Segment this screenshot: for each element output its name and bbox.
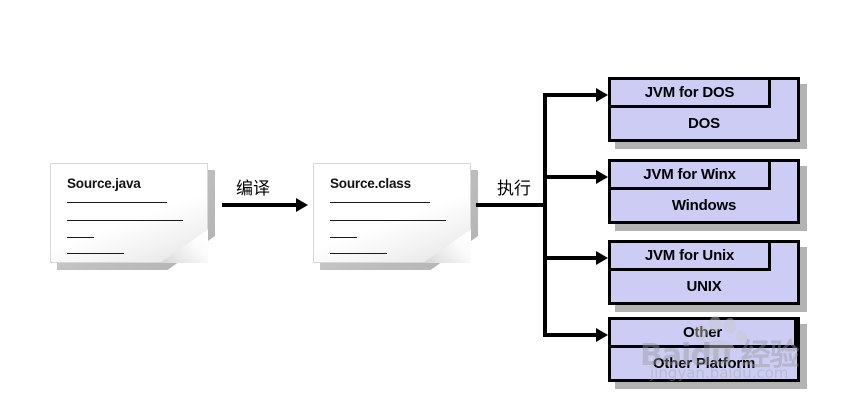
jvm-label: JVM for Winx [643, 166, 735, 183]
document-rule-line [67, 220, 183, 221]
branch-arrow-head-icon [596, 88, 608, 102]
platform-name-row: UNIX [611, 271, 797, 302]
platform-label: DOS [688, 115, 720, 132]
platform-box-unix: JVM for Unix UNIX [608, 240, 800, 305]
document-rule-line [67, 253, 124, 254]
platform-label: Other Platform [653, 355, 755, 372]
execute-stem-line [476, 203, 547, 207]
branch-arrow-head-icon [596, 251, 608, 265]
platform-name-row: Other Platform [611, 348, 797, 379]
document-rule-line [330, 220, 446, 221]
branch-arrow-head-icon [596, 170, 608, 184]
compile-label: 编译 [236, 174, 270, 199]
jvm-box-winx: JVM for Winx [611, 162, 771, 190]
document-rule-line [330, 202, 430, 203]
jvm-label: Other [683, 324, 722, 341]
execute-trunk-line [543, 93, 547, 337]
platform-box-dos: JVM for DOS DOS [608, 77, 800, 142]
platform-box-other: Other Other Platform [608, 317, 800, 382]
document-title: Source.class [330, 176, 411, 191]
jvm-box-other: Other [611, 320, 797, 348]
compile-arrow-line [222, 203, 298, 207]
watermark-corner: Bai 百度 [38, 368, 119, 395]
jvm-label: JVM for DOS [645, 84, 734, 101]
document-rule-line [330, 253, 387, 254]
compile-arrow-head-icon [296, 198, 308, 212]
diagram-canvas: Source.java 编译 Source.class 执行 JV [0, 0, 843, 409]
document-rule-line [330, 237, 357, 238]
platform-label: UNIX [686, 278, 721, 295]
jvm-box-dos: JVM for DOS [611, 80, 771, 108]
document-rule-line [67, 202, 167, 203]
document-title: Source.java [67, 176, 141, 191]
platform-name-row: Windows [611, 190, 797, 221]
jvm-label: JVM for Unix [645, 247, 734, 264]
document-rule-line [67, 237, 94, 238]
execute-label: 执行 [497, 174, 531, 199]
document-source-class: Source.class [313, 163, 471, 263]
document-source-java: Source.java [50, 163, 208, 263]
jvm-box-unix: JVM for Unix [611, 243, 771, 271]
platform-name-row: DOS [611, 108, 797, 139]
branch-arrow-head-icon [596, 328, 608, 342]
platform-box-winx: JVM for Winx Windows [608, 159, 800, 224]
platform-label: Windows [672, 197, 736, 214]
